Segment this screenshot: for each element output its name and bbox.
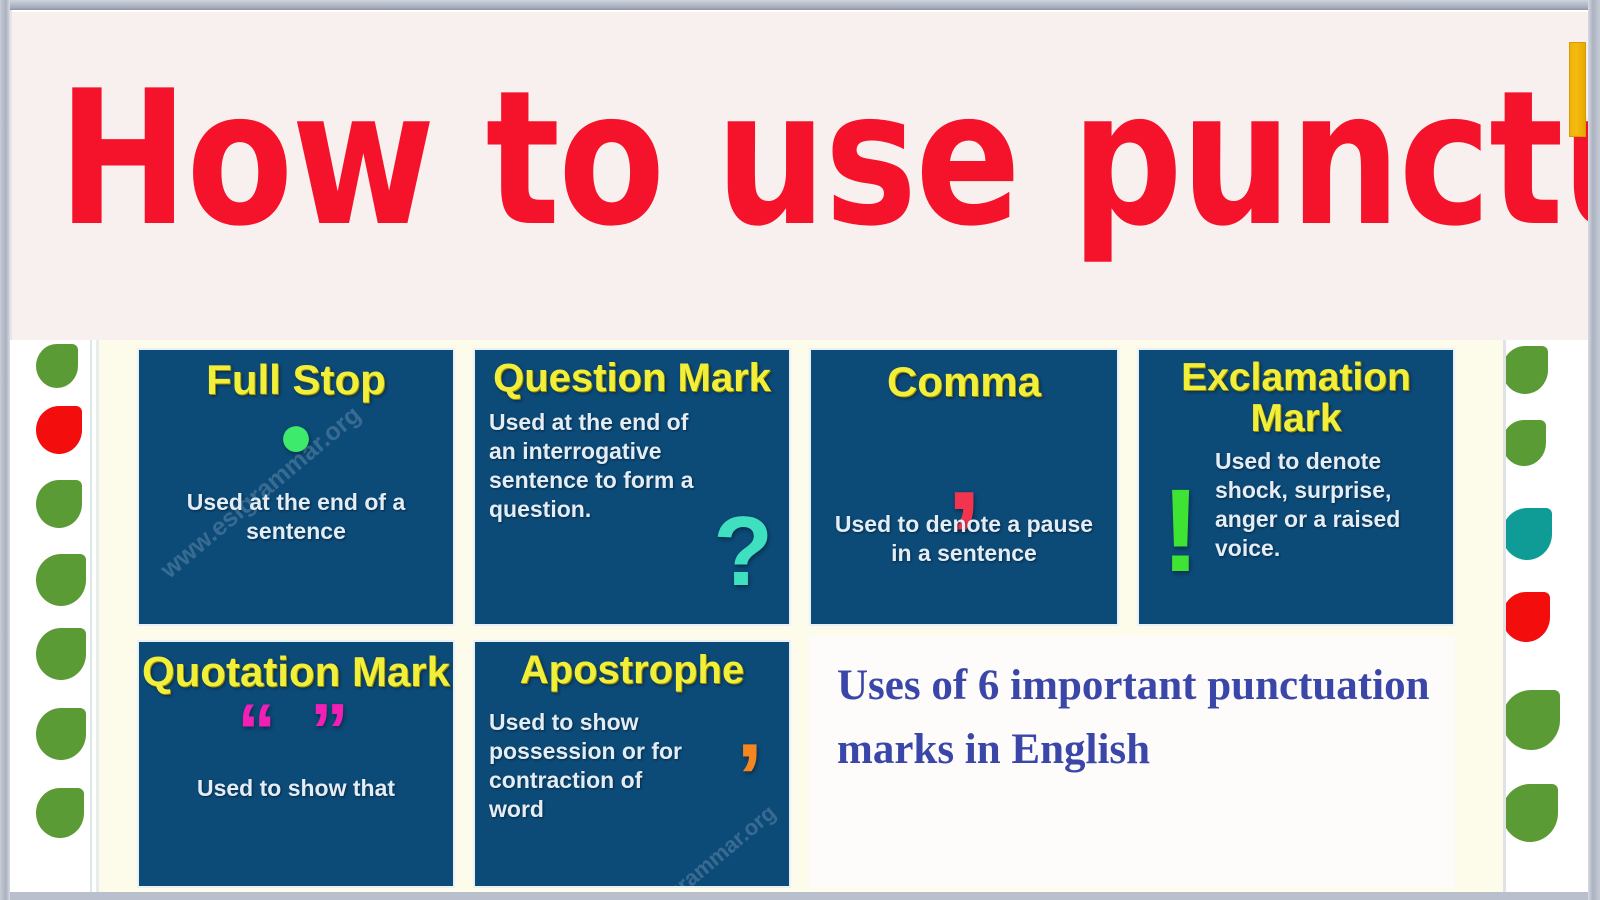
leaf-right-0	[1502, 346, 1548, 394]
left-decor-rail	[14, 340, 92, 892]
leaf-left-6	[36, 788, 84, 838]
window-border-top	[0, 0, 1600, 10]
scrollbar-thumb[interactable]	[1569, 42, 1586, 137]
card-title-apostrophe: Apostrophe	[475, 642, 789, 692]
window-border-left	[0, 0, 10, 900]
leaf-left-3	[36, 554, 86, 606]
card-desc-question-mark: Used at the end of an interrogative sent…	[475, 400, 789, 524]
window-frame: How to use punctuation www.eslgrammar.or…	[0, 0, 1600, 900]
card-title-full-stop: Full Stop	[139, 350, 453, 402]
leaf-right-4	[1502, 690, 1560, 750]
summary-panel: Uses of 6 important punctuation marks in…	[809, 636, 1455, 888]
punctuation-card-grid: www.eslgrammar.org Full Stop ● Used at t…	[137, 348, 1477, 888]
full-stop-dot-glyph: ●	[139, 406, 453, 466]
card-exclamation-mark[interactable]: Exclamation Mark ! Used to denote shock,…	[1137, 348, 1455, 626]
card-apostrophe[interactable]: www.eslgrammar.org Apostrophe ’ Used to …	[473, 640, 791, 888]
title-banner: How to use punctuation	[10, 10, 1588, 340]
leaf-left-2	[36, 480, 82, 528]
leaf-left-4	[36, 628, 86, 680]
card-title-exclamation-mark: Exclamation Mark	[1139, 350, 1453, 439]
window-border-right	[1588, 0, 1600, 900]
card-full-stop[interactable]: www.eslgrammar.org Full Stop ● Used at t…	[137, 348, 455, 626]
card-title-question-mark: Question Mark	[475, 350, 789, 400]
summary-text: Uses of 6 important punctuation marks in…	[837, 654, 1431, 781]
card-title-quotation-mark: Quotation Mark	[139, 642, 453, 694]
card-question-mark[interactable]: Question Mark ? Used at the end of an in…	[473, 348, 791, 626]
poster-sheet: www.eslgrammar.org Full Stop ● Used at t…	[96, 340, 1506, 892]
content-area: www.eslgrammar.org Full Stop ● Used at t…	[10, 340, 1588, 892]
card-desc-apostrophe: Used to show possession or for contracti…	[475, 692, 789, 824]
leaf-right-3	[1502, 592, 1550, 642]
exclamation-mark-glyph: !	[1161, 472, 1200, 590]
leaf-right-2	[1502, 508, 1552, 560]
leaf-left-0	[36, 344, 78, 388]
card-desc-full-stop: Used at the end of a sentence	[139, 466, 453, 546]
quotation-mark-glyph: “ ”	[139, 692, 453, 742]
page-title: How to use punctuation	[58, 46, 1425, 276]
leaf-left-1	[36, 406, 82, 454]
leaf-left-5	[36, 708, 86, 760]
comma-glyph: ‚	[811, 398, 1117, 472]
leaf-right-5	[1502, 784, 1558, 842]
card-comma[interactable]: Comma ‚ Used to denote a pause in a sent…	[809, 348, 1119, 626]
leaf-right-1	[1502, 420, 1546, 466]
card-quotation-mark[interactable]: Quotation Mark “ ” Used to show that	[137, 640, 455, 888]
